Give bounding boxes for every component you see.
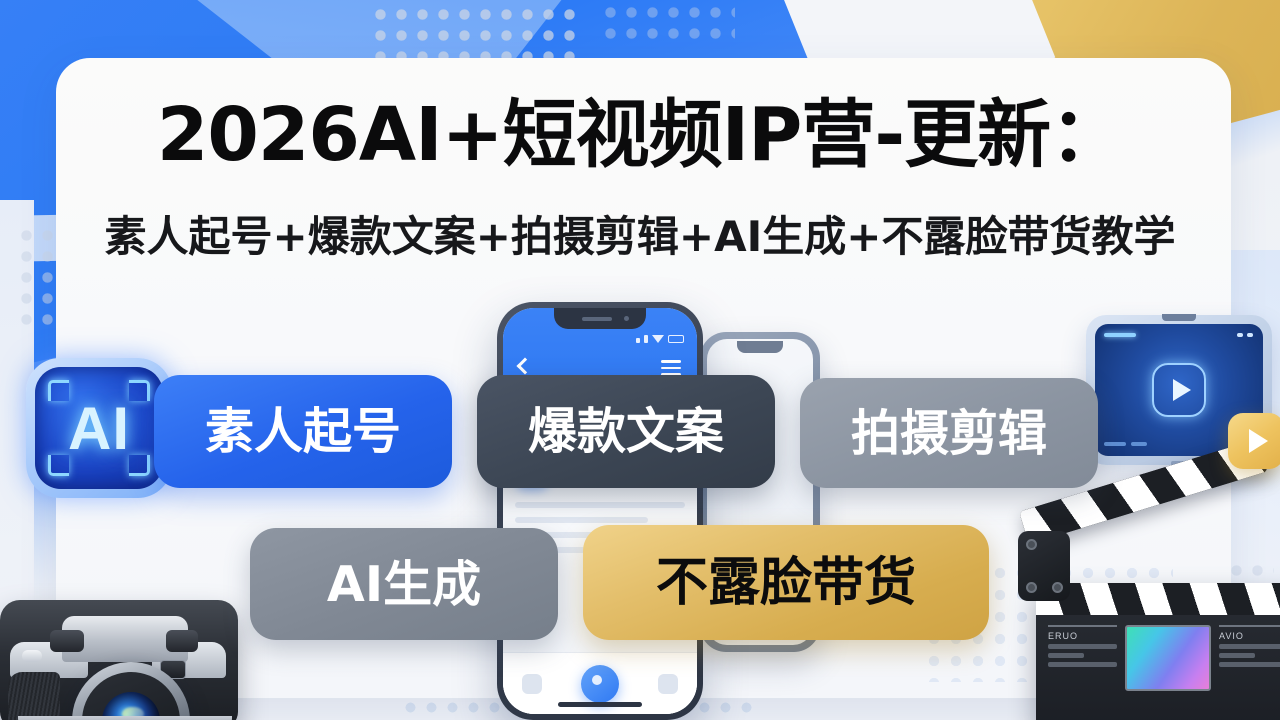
page-subtitle: 素人起号+爆款文案+拍摄剪辑+AI生成+不露脸带货教学 [105, 216, 1176, 258]
caption-lines [1104, 442, 1147, 446]
clapper-scene-label: ERUO [1048, 631, 1117, 641]
camera-left-dial [50, 630, 84, 652]
poster-root: 2026AI+短视频IP营-更新： 素人起号+爆款文案+拍摄剪辑+AI生成+不露… [0, 0, 1280, 720]
wifi-icon [652, 335, 664, 343]
tab-home-icon[interactable] [522, 674, 542, 694]
phone-status-icons [636, 335, 684, 343]
gold-play-badge-icon[interactable] [1228, 413, 1280, 469]
phone-speaker [582, 317, 612, 321]
feature-pill-ai-sheng-cheng[interactable]: AI生成 [250, 528, 558, 640]
tab-profile-icon[interactable] [658, 674, 678, 694]
secondary-phone-notch [737, 341, 783, 353]
ai-badge: AI [26, 358, 172, 498]
clapper-roll-label: AVIO [1219, 631, 1280, 641]
ai-badge-label: AI [35, 367, 163, 489]
camera-lens-barrel [82, 672, 180, 720]
feature-pill-pai-she-jian-ji[interactable]: 拍摄剪辑 [800, 378, 1098, 488]
dslr-camera-illustration [0, 556, 244, 720]
clapper-field-roll: AVIO [1219, 625, 1280, 671]
device-top-nub [1162, 314, 1196, 321]
signal-bar-icon [636, 338, 640, 343]
feature-pill-su-ren-qi-hao[interactable]: 素人起号 [154, 375, 452, 488]
camera-grip [8, 672, 60, 720]
clapperboard-fields: ERUO AVIO [1036, 617, 1280, 720]
clapperboard-slate: ERUO AVIO [1036, 583, 1280, 720]
clapper-field-scene: ERUO [1048, 625, 1117, 671]
feature-pill-bu-lu-lian-dai-huo[interactable]: 不露脸带货 [583, 525, 989, 640]
page-title: 2026AI+短视频IP营-更新： [157, 98, 1123, 172]
phone-mockup [497, 302, 703, 720]
play-icon[interactable] [1152, 363, 1206, 417]
camera-right-dial [166, 630, 198, 652]
dot-pattern-top-right [600, 2, 735, 44]
phone-camera-dot [624, 316, 629, 321]
progress-bar-icon [1104, 333, 1136, 337]
camera-shutter-button [22, 650, 42, 662]
signal-bar-icon [644, 335, 648, 343]
back-chevron-icon[interactable] [517, 358, 534, 375]
clapperboard-color-screen [1125, 625, 1211, 691]
clapperboard-hinge [1018, 531, 1070, 601]
ai-badge-core: AI [35, 367, 163, 489]
feature-pill-bao-kuan-wen-an[interactable]: 爆款文案 [477, 375, 775, 488]
device-status-dots [1237, 333, 1253, 337]
clapperboard-illustration: ERUO AVIO [1010, 505, 1280, 720]
record-button-icon[interactable] [581, 665, 619, 703]
phone-screen [503, 308, 697, 714]
home-indicator [558, 702, 642, 707]
clapperboard-stripes [1036, 583, 1280, 615]
camera-base [18, 716, 232, 720]
battery-icon [668, 335, 684, 343]
phone-notch [554, 308, 646, 329]
dot-pattern-top [370, 4, 575, 66]
camera-body [0, 600, 238, 720]
